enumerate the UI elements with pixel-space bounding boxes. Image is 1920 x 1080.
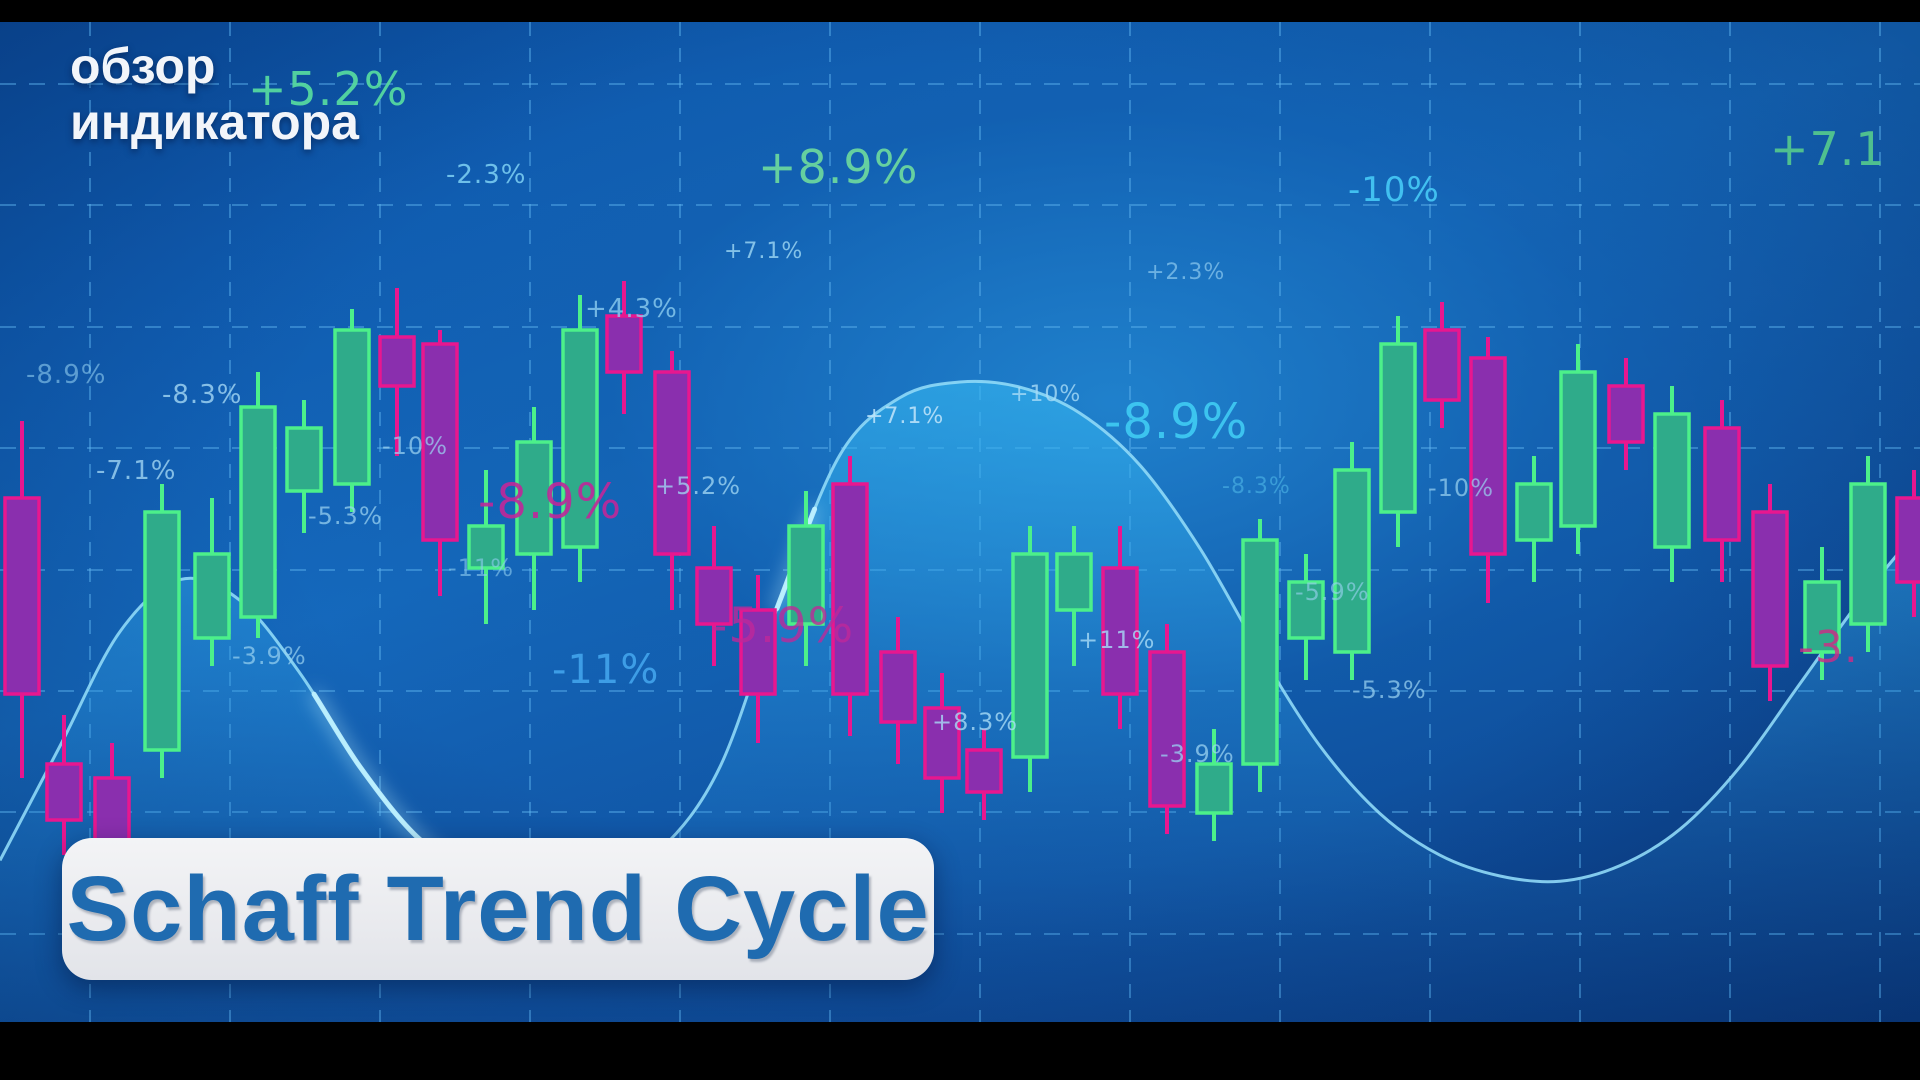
percent-label: +4.3% (585, 294, 678, 324)
percent-label: -7.1% (96, 456, 176, 486)
percent-label: -8.3% (1222, 474, 1291, 499)
percent-label: -3. (1798, 622, 1859, 673)
header-title: обзор индикатора (70, 38, 359, 150)
indicator-title: Schaff Trend Cycle (66, 857, 929, 962)
percent-label: +7.1% (724, 239, 803, 264)
letterbox-top (0, 0, 1920, 22)
percent-label: -8.9% (26, 360, 106, 390)
percent-label: +8.9% (758, 140, 918, 194)
percent-label: -8.3% (162, 380, 242, 410)
letterbox-bottom (0, 1022, 1920, 1080)
percent-label: -5.3% (1352, 676, 1427, 704)
percent-label: +2.3% (1146, 260, 1225, 285)
percent-label: +8.3% (932, 708, 1018, 736)
percent-label: -11% (552, 647, 659, 693)
percent-label: +5.2% (655, 472, 741, 500)
percent-label: +7.1 (1770, 122, 1886, 176)
percent-label: -11% (448, 554, 514, 582)
percent-label: -5.3% (308, 502, 383, 530)
percent-label: -5.9% (1295, 578, 1370, 606)
header-line-1: обзор (70, 38, 359, 94)
percent-label: -3.9% (1160, 740, 1235, 768)
title-banner: Schaff Trend Cycle (62, 838, 934, 980)
percent-label: -3.9% (232, 642, 307, 670)
percent-label: -10% (382, 432, 448, 460)
thumbnail-canvas: +5.2%-2.3%+8.9%+7.1-10%+7.1%+2.3%+4.3%-8… (0, 0, 1920, 1080)
percent-label: -10% (1428, 474, 1494, 502)
percent-label: -8.9% (478, 474, 622, 530)
percent-label: +11% (1078, 626, 1155, 654)
percent-label: -8.9% (1104, 394, 1248, 450)
percent-label: -10% (1348, 170, 1440, 210)
header-line-2: индикатора (70, 94, 359, 150)
percent-label: -5.9% (710, 598, 854, 654)
percent-label: +10% (1010, 382, 1081, 407)
percent-label: -2.3% (446, 160, 526, 190)
percent-label: +7.1% (865, 404, 944, 429)
